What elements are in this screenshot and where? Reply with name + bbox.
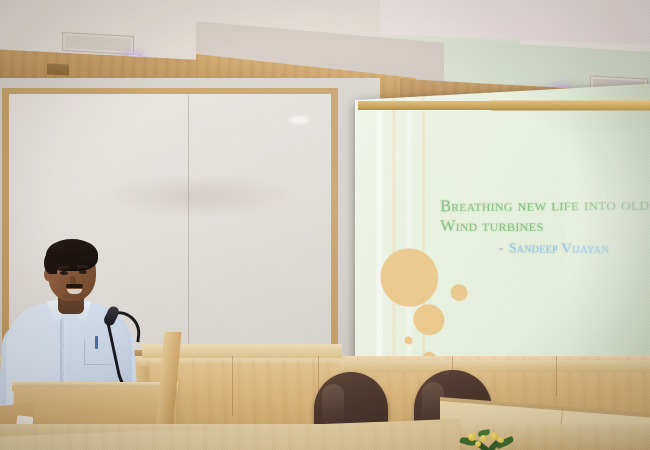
air-vent-left [62,32,134,55]
paneling-ledge-right [340,360,650,372]
flower-bloom [468,433,476,441]
whiteboard-glare [288,115,310,125]
presenter-sideburn [44,252,57,274]
screen-edge-shading [570,82,650,379]
whiteboard-seam [188,95,189,351]
table-grain-texture [0,424,650,450]
presentation-room-photo: Breathing new life into old Wind turbine… [0,0,650,450]
flower-bloom [475,441,481,447]
shirt-button [60,372,64,376]
slide-author-dash: - [499,241,504,256]
pen-icon [95,336,98,349]
shirt-button [60,344,64,348]
slide-title-line-2: Wind turbines [440,217,544,235]
flower-arrangement [458,430,518,450]
slide-circle-large [380,248,438,307]
paneling-seam [556,356,557,396]
flower-bloom [480,435,487,442]
projection-screen-top-rail [358,100,650,110]
projection-streak [376,99,382,364]
slide-circle-medium [414,304,445,336]
presenter-moustache [66,284,83,288]
presenter-eye-right [79,270,87,274]
slide-circle-small [451,284,468,301]
presenter-nose [70,276,76,284]
projected-slide: Breathing new life into old Wind turbine… [355,82,650,379]
flower-bloom [490,432,498,440]
paneling-seam [232,356,233,416]
flower-bloom [498,437,504,443]
projection-screen-frame: Breathing new life into old Wind turbine… [355,82,650,379]
projection-streak [392,98,395,364]
presenter-eye-left [60,271,68,275]
slide-circle-tiny [404,336,412,345]
whiteboard-smudge [105,175,295,217]
projection-streak [406,97,411,365]
wall-plate [47,63,69,75]
